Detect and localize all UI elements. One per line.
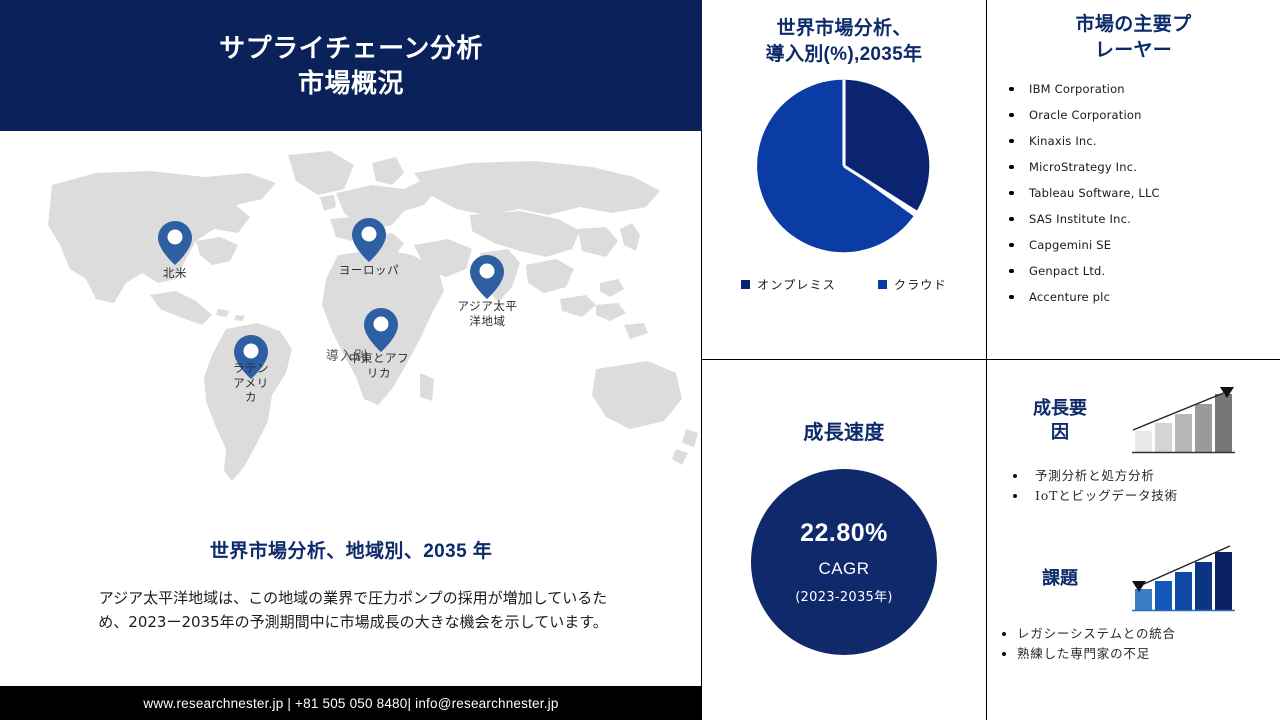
pie-panel-title: 世界市場分析、 導入別(%),2035年 (702, 16, 986, 68)
map-pin-europe[interactable] (352, 218, 386, 262)
map-overlay-text: 導入別 (326, 345, 368, 364)
title-banner: サプライチェーン分析 市場概況 (0, 0, 702, 131)
challenges-block: 課題 レガシーシステムとの統合 熟練した専門家の不足 (987, 540, 1280, 665)
growth-drivers-title: 成長要 因 (1001, 397, 1119, 445)
drivers-title-line-1: 成長要 (1001, 397, 1119, 421)
world-map: 北米 ヨーロッパ アジア太平 洋地域 中東とアフ リカ ラテン アメリ カ 導入… (0, 133, 702, 523)
deployment-pie-panel: 世界市場分析、 導入別(%),2035年 オンプレミス クラウド (702, 0, 987, 360)
legend-label-onpremise: オンプレミス (757, 276, 836, 293)
challenges-list: レガシーシステムとの統合 熟練した専門家の不足 (987, 624, 1280, 665)
players-panel-title: 市場の主要プ レーヤー (987, 12, 1280, 64)
drivers-title-line-2: 因 (1001, 421, 1119, 445)
page-title: サプライチェーン分析 市場概況 (219, 31, 483, 101)
pie-title-line-1: 世界市場分析、 (702, 16, 986, 42)
challenges-bar-chart-svg (1129, 540, 1241, 618)
list-item: IBM Corporation (1029, 82, 1280, 96)
growth-rate-panel: 成長速度 22.80% CAGR (2023-2035年) (702, 360, 987, 720)
infographic-page: サプライチェーン分析 市場概況 (0, 0, 1280, 720)
map-pin-asia-pacific[interactable] (470, 255, 504, 299)
title-line-1: サプライチェーン分析 (219, 33, 483, 63)
growth-drivers-bar-chart-svg (1129, 382, 1241, 460)
cagr-period: (2023-2035年) (795, 586, 893, 605)
left-panel: サプライチェーン分析 市場概況 (0, 0, 702, 720)
map-caption-body: アジア太平洋地域は、この地域の業界で圧力ポンプの採用が増加しているため、2023… (98, 586, 608, 635)
world-map-svg (0, 133, 702, 523)
growth-drivers-list: 予測分析と処方分析 IoTとビッグデータ技術 (987, 466, 1280, 507)
key-players-panel: 市場の主要プ レーヤー IBM Corporation Oracle Corpo… (987, 0, 1280, 360)
list-item: IoTとビッグデータ技術 (1035, 486, 1274, 506)
cagr-circle: 22.80% CAGR (2023-2035年) (751, 469, 937, 655)
growth-drivers-bar-chart (1129, 382, 1241, 460)
pie-legend: オンプレミス クラウド (702, 276, 986, 293)
list-item: 熟練した専門家の不足 (1017, 644, 1274, 664)
list-item: Tableau Software, LLC (1029, 186, 1280, 200)
map-label-north-america: 北米 (145, 266, 205, 281)
key-players-list: IBM Corporation Oracle Corporation Kinax… (987, 82, 1280, 304)
legend-swatch-onpremise-icon (741, 280, 750, 289)
cagr-panel-title: 成長速度 (702, 420, 986, 447)
drivers-challenges-panel: 成長要 因 予測分析と処方分析 (987, 360, 1280, 720)
map-caption-heading: 世界市場分析、地域別、2035 年 (0, 536, 702, 563)
title-line-2: 市場概況 (219, 66, 483, 101)
list-item: Genpact Ltd. (1029, 264, 1280, 278)
cagr-value: 22.80% (800, 519, 888, 548)
list-item: SAS Institute Inc. (1029, 212, 1280, 226)
list-item: Accenture plc (1029, 290, 1280, 304)
footer-contact-text: www.researchnester.jp | +81 505 050 8480… (143, 696, 558, 711)
list-item: MicroStrategy Inc. (1029, 160, 1280, 174)
list-item: レガシーシステムとの統合 (1017, 624, 1274, 644)
legend-swatch-cloud-icon (878, 280, 887, 289)
list-item: Kinaxis Inc. (1029, 134, 1280, 148)
footer-bar: www.researchnester.jp | +81 505 050 8480… (0, 686, 702, 720)
challenges-header: 課題 (987, 540, 1280, 618)
legend-item-cloud: クラウド (878, 276, 947, 293)
list-item: 予測分析と処方分析 (1035, 466, 1274, 486)
pie-chart (702, 78, 986, 254)
challenges-bar-chart (1129, 540, 1241, 618)
list-item: Capgemini SE (1029, 238, 1280, 252)
map-label-europe: ヨーロッパ (330, 263, 408, 278)
growth-drivers-block: 成長要 因 予測分析と処方分析 (987, 382, 1280, 507)
players-title-line-2: レーヤー (1011, 38, 1256, 64)
legend-label-cloud: クラウド (894, 276, 947, 293)
legend-item-onpremise: オンプレミス (741, 276, 836, 293)
pie-title-line-2: 導入別(%),2035年 (702, 42, 986, 68)
map-pin-middle-east-africa[interactable] (364, 308, 398, 352)
map-pin-north-america[interactable] (158, 221, 192, 265)
cagr-metric-label: CAGR (818, 559, 869, 579)
map-label-latin-america: ラテン アメリ カ (222, 361, 280, 405)
challenges-title: 課題 (1001, 567, 1119, 591)
map-label-asia-pacific: アジア太平 洋地域 (450, 299, 525, 328)
players-title-line-1: 市場の主要プ (1011, 12, 1256, 38)
list-item: Oracle Corporation (1029, 108, 1280, 122)
growth-drivers-header: 成長要 因 (987, 382, 1280, 460)
pie-chart-svg (756, 78, 932, 254)
